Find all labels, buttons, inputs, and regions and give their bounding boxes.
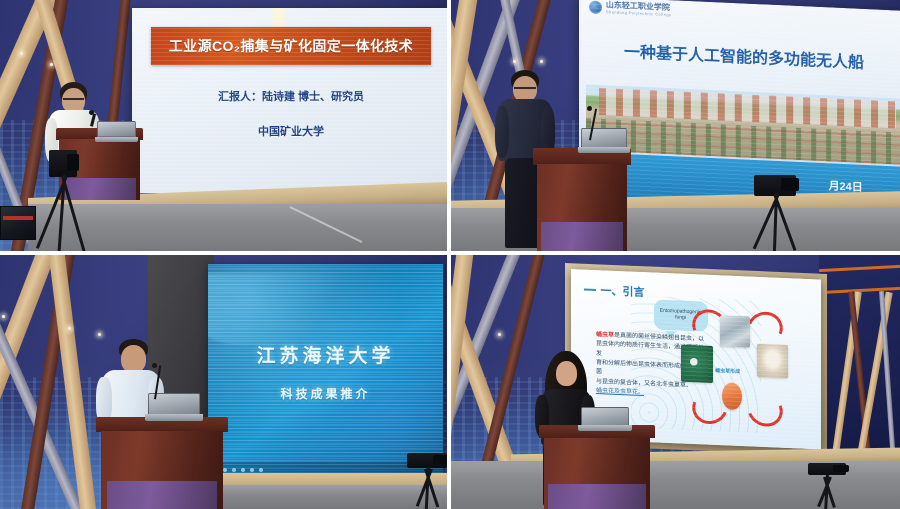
taskbar-icon[interactable] [250, 468, 254, 472]
camera-tripod [402, 453, 447, 509]
camera-tripod [749, 175, 801, 251]
monitor-screen [0, 206, 36, 240]
projection-screen: 工业源CO₂捕集与矿化固定一体化技术 汇报人：陆诗建 博士、研究员 中国矿业大学 [132, 8, 447, 193]
laptop [581, 407, 629, 431]
confidence-monitor [0, 206, 36, 240]
moth-photo [757, 343, 788, 378]
head [556, 361, 577, 386]
arm [495, 106, 509, 158]
photo-panel-bottom-right: 一、引言 Entomopathogenic fungi 蛹虫草是真菌的菌丝侵染鳞… [451, 255, 900, 509]
laptop-keyboard [95, 137, 139, 142]
stage-light-dot [20, 52, 23, 55]
body-line-5: 蛹虫花及虫草花。 [596, 388, 644, 396]
stage-light-dot [540, 60, 543, 63]
stage-light-dot [98, 333, 101, 336]
lectern [96, 417, 228, 509]
laptop-keyboard [145, 414, 203, 421]
laptop-screen [97, 121, 136, 137]
lectern-base [107, 481, 218, 509]
slide-heading-row: 一、引言 [584, 281, 645, 300]
laptop-screen [581, 128, 627, 148]
laptop-keyboard [578, 147, 630, 153]
head [121, 345, 146, 373]
glasses-icon [63, 98, 84, 100]
photo-panel-bottom-left: 江苏海洋大学 科技成果推介 [0, 255, 447, 509]
monitor-title-band [3, 216, 33, 220]
slide-presenter-line: 汇报人：陆诗建 博士、研究员 [132, 88, 447, 104]
stage-light-dot [2, 315, 5, 318]
logo-text: 山东轻工职业学院 Shandong Polytechnic College [606, 1, 672, 17]
lectern-base [541, 222, 623, 252]
photo-panel-top-left: 工业源CO₂捕集与矿化固定一体化技术 汇报人：陆诗建 博士、研究员 中国矿业大学 [0, 0, 447, 251]
laptop [97, 121, 136, 142]
cycle-arrow [742, 387, 788, 433]
taskbar-icon[interactable] [259, 468, 263, 472]
highlighted-term: 蛹虫草 [596, 332, 614, 339]
stage-light-dot [68, 327, 71, 330]
led-wall: 江苏海洋大学 科技成果推介 [208, 264, 443, 477]
laptop [581, 128, 627, 153]
glasses-icon [514, 87, 536, 89]
camera-tripod [803, 463, 851, 509]
heading-dash-icon [584, 288, 596, 291]
logo-emblem-icon [589, 0, 602, 14]
laptop-keyboard [578, 425, 632, 431]
slide-title-band: 工业源CO₂捕集与矿化固定一体化技术 [151, 27, 431, 66]
diagram-caption: 蛹虫草形成 [715, 367, 740, 375]
lifecycle-diagram: 蛹虫草形成 [676, 311, 791, 428]
camera-lens-icon [781, 178, 799, 191]
pupa-photo [722, 382, 742, 410]
laptop-screen [581, 407, 629, 426]
slide-title: 工业源CO₂捕集与矿化固定一体化技术 [169, 36, 413, 56]
lectern-base [548, 484, 645, 509]
stage-light-dot [513, 60, 516, 63]
spore-photo [720, 315, 750, 348]
taskbar-icon[interactable] [241, 468, 245, 472]
lectern [533, 148, 631, 251]
camera-lens-icon [67, 154, 79, 171]
taskbar-icon[interactable] [232, 468, 236, 472]
slide-title: 江苏海洋大学 [208, 341, 443, 368]
lectern [539, 425, 655, 509]
camera-tripod [46, 150, 80, 251]
photo-panel-top-right: 山东轻工职业学院 Shandong Polytechnic College 一种… [451, 0, 900, 251]
stage-floor [28, 204, 447, 251]
microphone-head-icon [152, 363, 157, 368]
stage-light-dot [50, 63, 53, 66]
stage-light-dot [498, 333, 501, 336]
slide-heading: 一、引言 [601, 282, 645, 300]
slide-subtitle: 科技成果推介 [208, 385, 443, 402]
camera-lens-icon [833, 465, 849, 472]
fungus-photo [681, 345, 713, 383]
slide-affiliation: 中国矿业大学 [132, 123, 447, 139]
microphone-head-icon [587, 106, 592, 111]
presentation-collage: 工业源CO₂捕集与矿化固定一体化技术 汇报人：陆诗建 博士、研究员 中国矿业大学 [0, 0, 900, 509]
camera-lens-icon [433, 455, 447, 464]
